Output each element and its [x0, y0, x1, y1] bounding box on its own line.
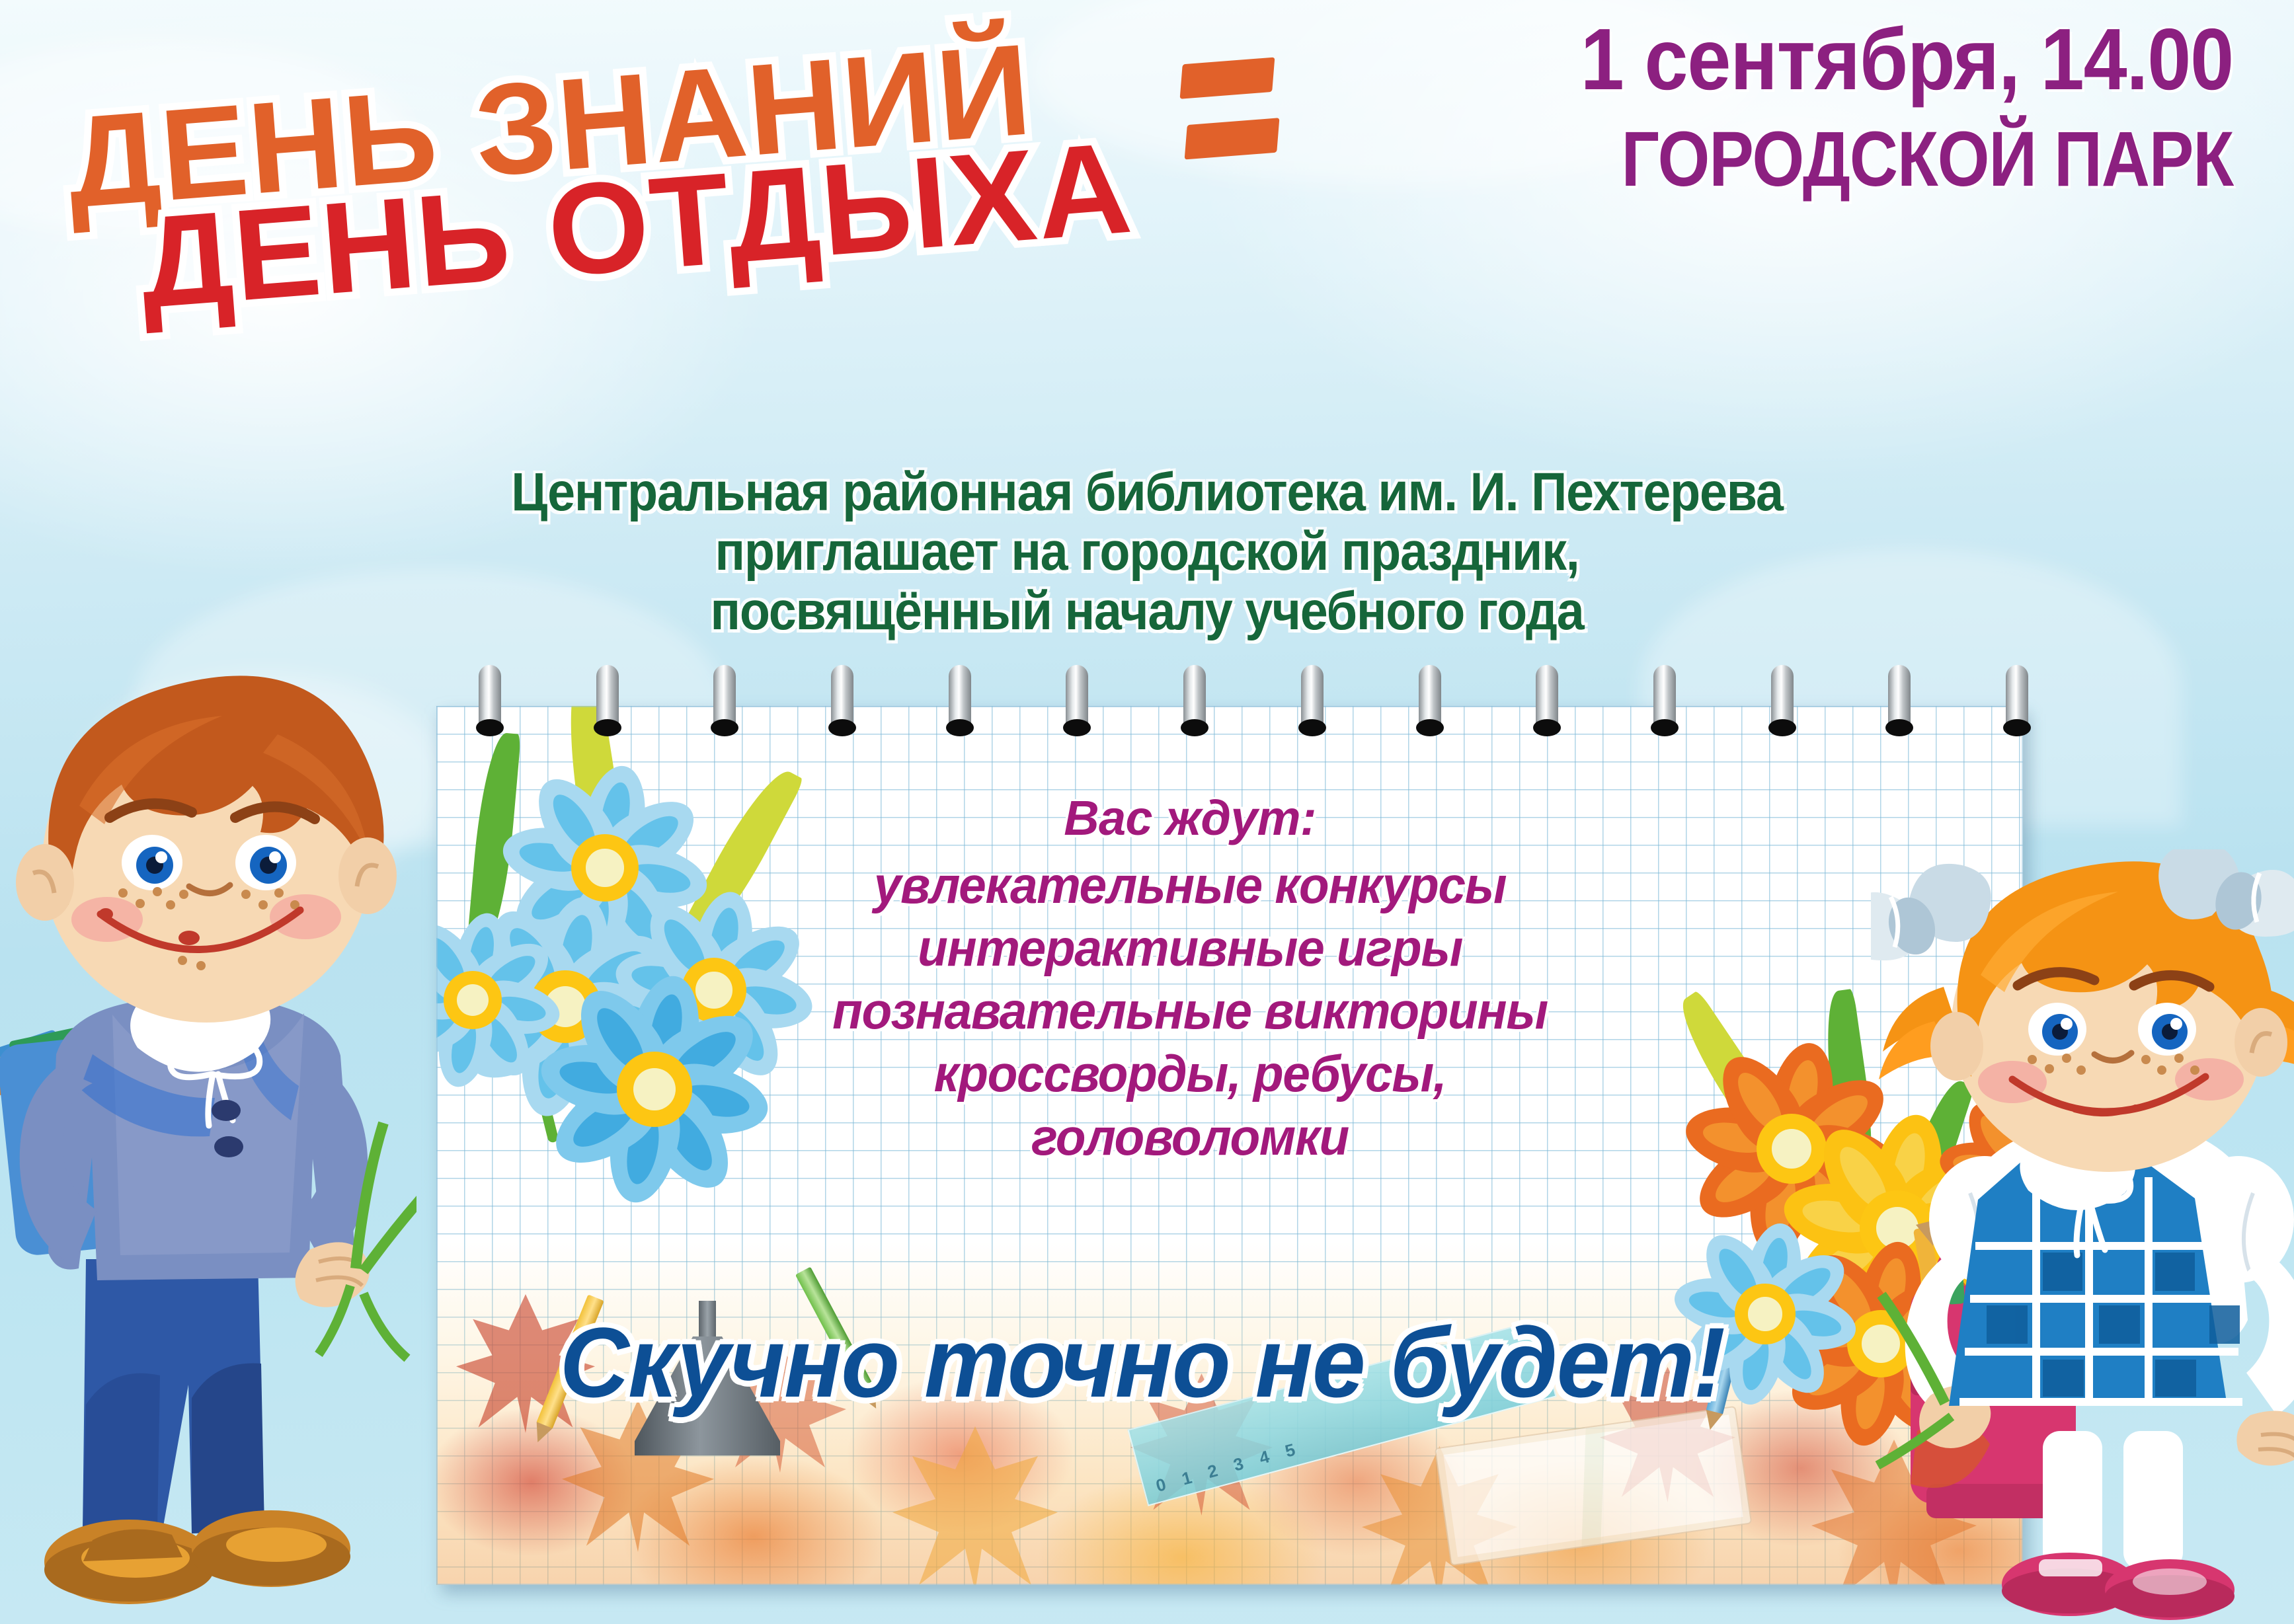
spiral-ring-icon	[818, 661, 867, 739]
event-info: 1 сентября, 14.00 ГОРОДСКОЙ ПАРК	[1361, 16, 2233, 198]
ruler-mark: 4	[1257, 1446, 1271, 1469]
spiral-ring-icon	[700, 661, 749, 739]
organizer-line-2: приглашает на городской праздник,	[92, 522, 2202, 582]
flower-center	[1735, 1284, 1795, 1344]
equals-sign-icon	[1180, 58, 1280, 159]
ruler-mark: 2	[1205, 1460, 1220, 1483]
list-item: кроссворды, ребусы,	[771, 1042, 1608, 1105]
ruler-mark: 1	[1179, 1467, 1194, 1490]
schoolgirl-illustration	[1871, 849, 2294, 1624]
program-heading: Вас ждут:	[754, 790, 1626, 846]
flower-center	[571, 834, 639, 902]
spiral-ring-icon	[1993, 661, 2041, 739]
blue-flower-icon	[436, 924, 549, 1076]
poster-title: ДЕНЬ ЗНАНИЙ ДЕНЬ ОТДЫХА	[59, 34, 1355, 338]
spiral-ring-icon	[583, 661, 632, 739]
flower-center	[617, 1052, 692, 1127]
spiral-ring-icon	[1288, 661, 1337, 739]
ruler-mark: 3	[1231, 1453, 1246, 1476]
spiral-binding	[436, 661, 2023, 767]
blue-flower-icon	[555, 990, 754, 1188]
schoolboy-illustration	[0, 644, 416, 1624]
organizer-block: Центральная районная библиотека им. И. П…	[0, 463, 2294, 642]
spiral-ring-icon	[1875, 661, 1924, 739]
program-block: Вас ждут: увлекательные конкурсы интерак…	[754, 790, 1626, 1169]
ruler-mark: 0	[1154, 1474, 1168, 1496]
organizer-line-1: Центральная районная библиотека им. И. П…	[92, 463, 2202, 522]
spiral-ring-icon	[935, 661, 984, 739]
ruler-mark: 5	[1283, 1440, 1298, 1462]
organizer-line-3: посвящённый началу учебного года	[92, 582, 2202, 641]
list-item: познавательные викторины	[771, 980, 1608, 1042]
event-date-time: 1 сентября, 14.00	[1448, 16, 2233, 103]
spiral-ring-icon	[1170, 661, 1219, 739]
spiral-ring-icon	[465, 661, 514, 739]
spiral-ring-icon	[1052, 661, 1101, 739]
list-item: увлекательные конкурсы	[771, 854, 1608, 917]
spiral-ring-icon	[1758, 661, 1807, 739]
slogan-text: Скучно точно не будет!	[560, 1305, 1702, 1420]
spiral-ring-icon	[1640, 661, 1689, 739]
program-list: увлекательные конкурсы интерактивные игр…	[754, 854, 1626, 1169]
spiral-ring-icon	[1405, 661, 1454, 739]
flower-center	[444, 971, 501, 1028]
spiral-ring-icon	[1523, 661, 1571, 739]
list-item: головоломки	[771, 1106, 1608, 1169]
event-location: ГОРОДСКОЙ ПАРК	[1483, 120, 2233, 198]
list-item: интерактивные игры	[771, 917, 1608, 980]
